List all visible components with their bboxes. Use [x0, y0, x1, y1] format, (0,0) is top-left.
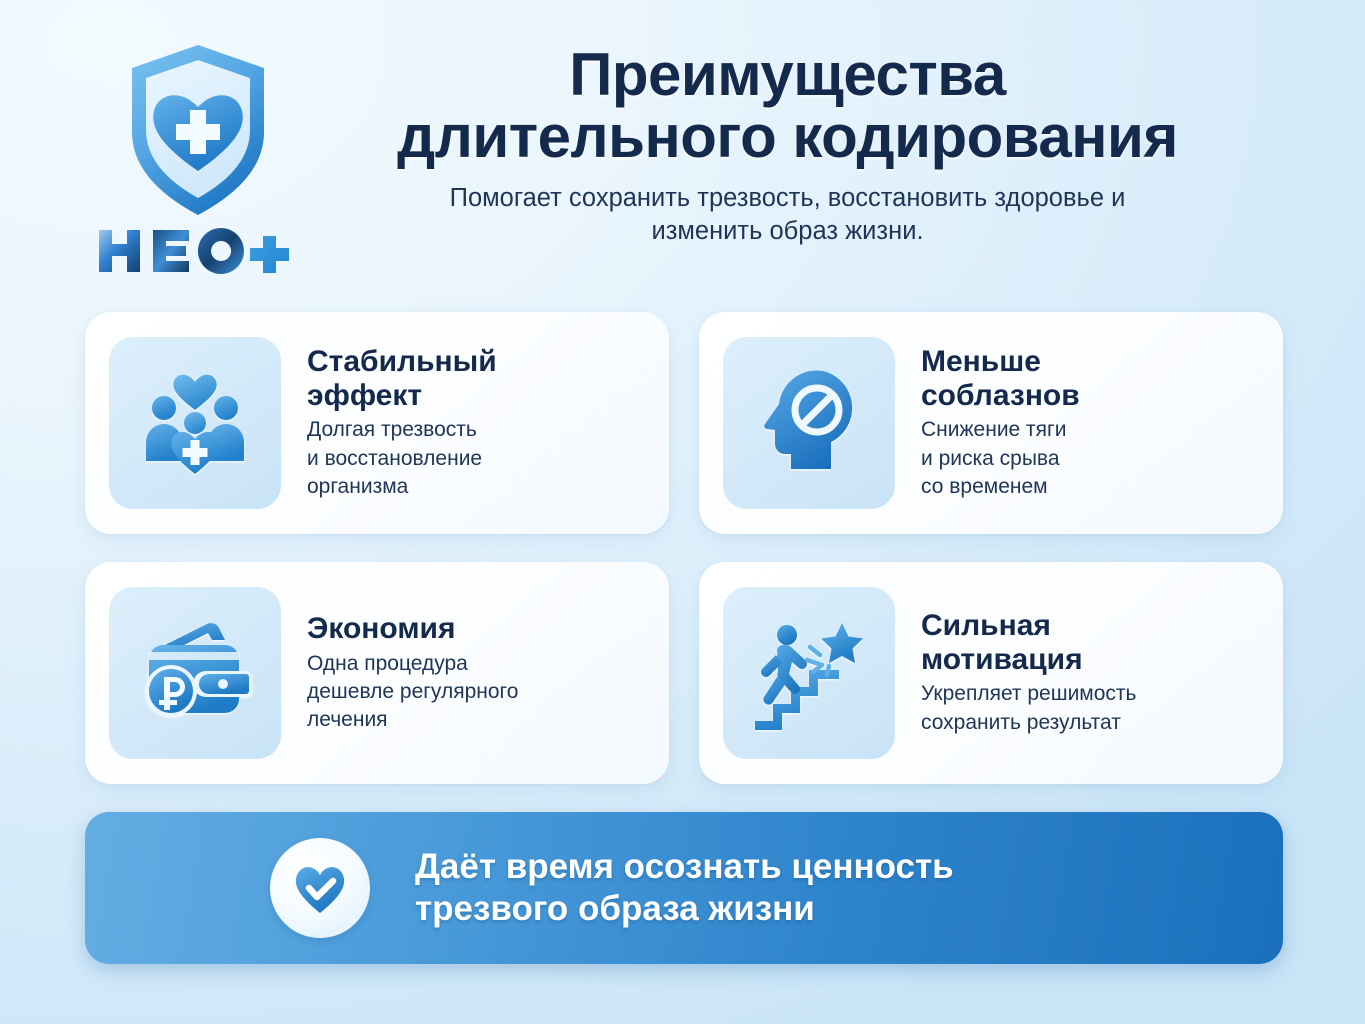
title-block: Преимуществадлительного кодирования Помо…	[300, 44, 1275, 249]
benefit-card-fewer-temptations[interactable]: Меньше соблазнов Снижение тяги и риска с…	[699, 312, 1283, 534]
card-title: Сильная мотивация	[921, 609, 1265, 676]
brand-wordmark	[93, 222, 303, 278]
card-title: Стабильный эффект	[307, 345, 651, 412]
benefit-card-stable-effect[interactable]: Стабильный эффект Долгая трезвость и вос…	[85, 312, 669, 534]
icon-tile	[109, 587, 281, 759]
infographic-poster: Преимуществадлительного кодирования Помо…	[0, 0, 1365, 1024]
card-description: Долгая трезвость и восстановление органи…	[307, 416, 651, 500]
head-prohibition-icon	[747, 361, 871, 485]
wallet-ruble-icon	[133, 611, 257, 735]
card-text: Стабильный эффект Долгая трезвость и вос…	[307, 345, 651, 501]
card-description: Снижение тяги и риска срыва со временем	[921, 416, 1265, 500]
benefit-card-strong-motivation[interactable]: Сильная мотивация Укрепляет решимость со…	[699, 562, 1283, 784]
card-description: Укрепляет решимость сохранить результат	[921, 680, 1265, 736]
icon-tile	[723, 337, 895, 509]
icon-tile	[109, 337, 281, 509]
title-line-1: Преимущества	[569, 41, 1005, 108]
card-text: Меньше соблазнов Снижение тяги и риска с…	[921, 345, 1265, 501]
card-title: Экономия	[307, 612, 651, 646]
page-subtitle: Помогает сохранить трезвость, восстанови…	[418, 182, 1158, 249]
person-stairs-star-icon	[747, 611, 871, 735]
banner-text: Даёт время осознать ценность трезвого об…	[415, 846, 954, 930]
card-text: Экономия Одна процедура дешевле регулярн…	[307, 612, 651, 734]
card-title: Меньше соблазнов	[921, 345, 1265, 412]
benefit-card-savings[interactable]: Экономия Одна процедура дешевле регулярн…	[85, 562, 669, 784]
family-heart-cross-icon	[133, 361, 257, 485]
card-description: Одна процедура дешевле регулярного лечен…	[307, 650, 651, 734]
summary-banner: Даёт время осознать ценность трезвого об…	[85, 812, 1283, 964]
page-title: Преимуществадлительного кодирования	[300, 44, 1275, 168]
card-text: Сильная мотивация Укрепляет решимость со…	[921, 609, 1265, 736]
benefits-grid: Стабильный эффект Долгая трезвость и вос…	[85, 312, 1283, 784]
banner-badge	[270, 838, 370, 938]
heart-check-badge-icon	[290, 858, 350, 918]
title-line-2: длительного кодирования	[300, 106, 1275, 168]
brand-logo	[78, 40, 318, 278]
header: Преимуществадлительного кодирования Помо…	[0, 0, 1365, 300]
icon-tile	[723, 587, 895, 759]
shield-heart-cross-icon	[122, 40, 274, 220]
